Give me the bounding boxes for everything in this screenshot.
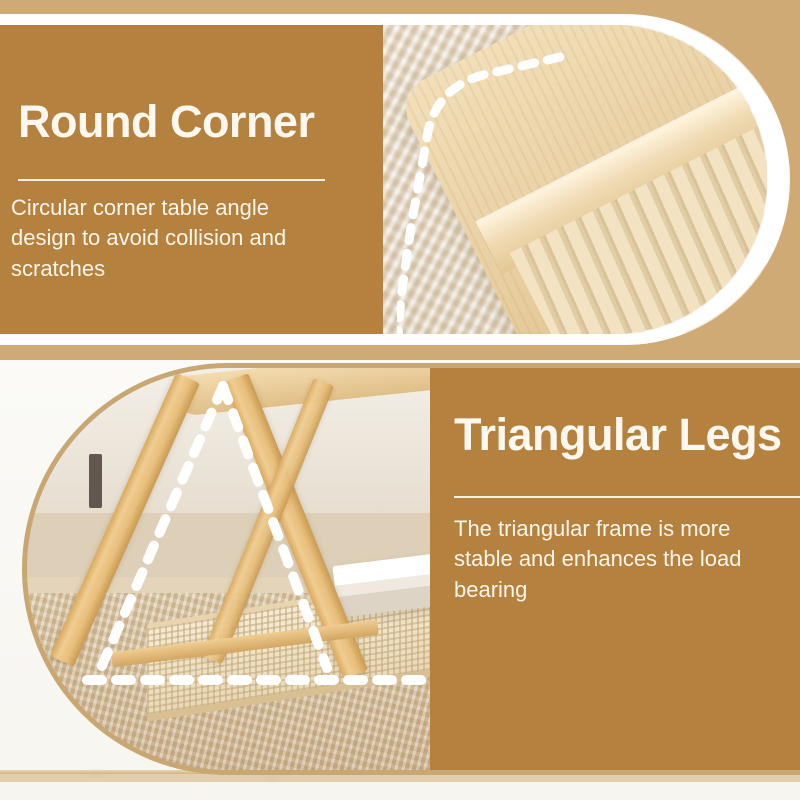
triangular-legs-photo	[27, 368, 430, 770]
round-corner-description: Circular corner table angle design to av…	[11, 193, 311, 284]
triangular-legs-divider	[454, 496, 800, 498]
round-corner-divider	[18, 179, 325, 181]
feature-panel-triangular-legs: Triangular Legs The triangular frame is …	[22, 363, 800, 775]
feature-panel-round-corner-inner: Round Corner Circular corner table angle…	[0, 25, 767, 334]
round-corner-title: Round Corner	[18, 99, 314, 144]
triangular-legs-description: The triangular frame is more stable and …	[454, 514, 764, 605]
feature-panel-triangular-legs-inner: Triangular Legs The triangular frame is …	[27, 368, 800, 770]
round-corner-text-column: Round Corner Circular corner table angle…	[0, 25, 383, 334]
feature-panel-round-corner: Round Corner Circular corner table angle…	[0, 14, 790, 345]
product-feature-infographic: Round Corner Circular corner table angle…	[0, 0, 800, 800]
scene-dark-post	[89, 454, 102, 508]
triangular-legs-title: Triangular Legs	[454, 412, 782, 457]
background-bottom-tan-band	[0, 774, 800, 782]
round-corner-photo	[383, 25, 767, 334]
triangular-legs-text-column: Triangular Legs The triangular frame is …	[430, 368, 800, 770]
